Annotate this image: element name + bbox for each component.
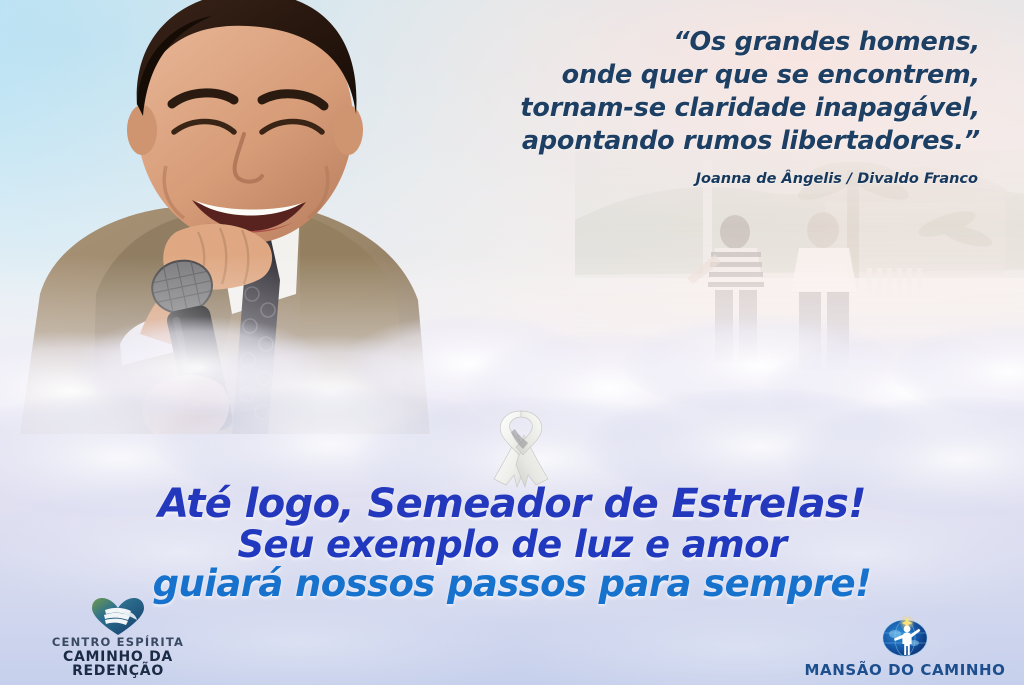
heart-hands-icon [91,597,145,637]
memorial-poster: “Os grandes homens, onde quer que se enc… [0,0,1024,685]
logo-right-line-1: MANSÃO DO CAMINHO [804,661,1005,679]
portrait-smiling-man-with-microphone [0,0,470,434]
faded-photo-two-people-walking [575,150,1024,450]
quote-line-2: onde quer que se encontrem, [440,59,980,92]
logo-left-text: CENTRO ESPÍRITA CAMINHO DA REDENÇÃO [18,637,218,679]
logo-mansao-do-caminho: MANSÃO DO CAMINHO [800,616,1010,679]
quote-line-4: apontando rumos libertadores.” [440,125,980,158]
headline-line-1: Até logo, Semeador de Estrelas! [0,484,1024,525]
quote-line-1: “Os grandes homens, [440,26,980,59]
quote-line-3: tornam-se claridade inapagável, [440,92,980,125]
logo-left-line-2: CAMINHO DA REDENÇÃO [18,650,218,679]
quote-text: “Os grandes homens, onde quer que se enc… [440,26,980,158]
logo-centro-espirita-caminho-da-redencao: CENTRO ESPÍRITA CAMINHO DA REDENÇÃO [18,597,218,679]
headline: Até logo, Semeador de Estrelas! Seu exem… [0,484,1024,604]
logo-left-line-1: CENTRO ESPÍRITA [18,637,218,649]
headline-line-2: Seu exemplo de luz e amor [0,525,1024,564]
globe-figure-icon [881,616,929,658]
white-awareness-ribbon-icon [488,405,554,490]
quote-attribution: Joanna de Ângelis / Divaldo Franco [438,171,978,187]
